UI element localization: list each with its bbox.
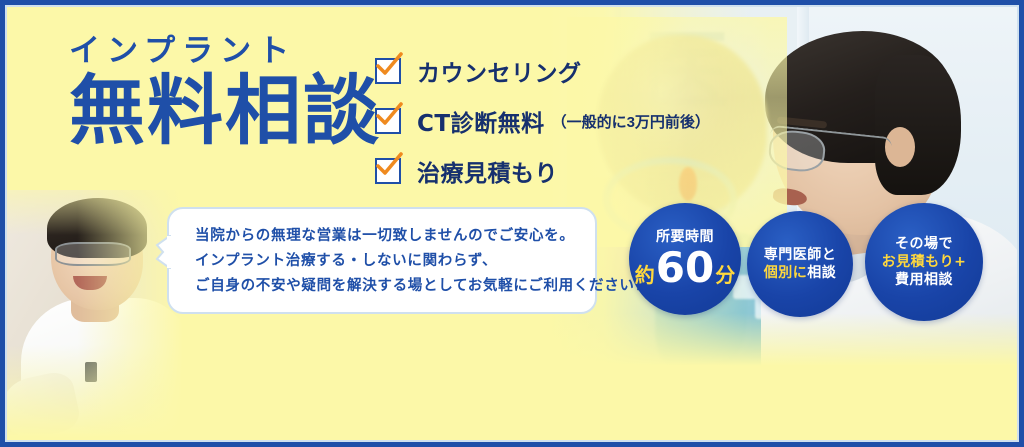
checklist-item-label: カウンセリング	[417, 54, 582, 88]
badge-duration-prefix: 約	[635, 259, 655, 288]
left-photo-yellow-fade	[7, 190, 183, 440]
bubble-line-2: インプラント治療する・しないに関わらず、	[195, 249, 575, 274]
badge-estimate: その場で お見積もり+ 費用相談	[865, 203, 983, 321]
smiling-dentist-photo	[7, 190, 183, 440]
bubble-line-3: ご自身の不安や疑問を解決する場としてお気軽にご利用ください！	[195, 274, 575, 299]
badge-specialist-line2-white: 相談	[807, 265, 836, 281]
headline-title: 無料相談	[69, 70, 389, 152]
promo-banner: 医 療 法	[0, 0, 1024, 447]
checklist-item: 治療見積もり	[375, 149, 710, 193]
badge-specialist-line2-yellow: 個別に	[764, 265, 808, 281]
headline-block: インプラント 無料相談	[69, 35, 389, 152]
badge-duration-number: 60	[656, 247, 714, 289]
checklist-item-label: 治療見積もり	[417, 154, 558, 188]
feature-badges: 所要時間 約 60 分 専門医師と 個別に相談 その場で お見積もり+ 費用相談	[629, 203, 1009, 323]
badge-duration: 所要時間 約 60 分	[629, 203, 741, 315]
badge-specialist-line1: 専門医師と	[764, 246, 837, 264]
feature-checklist: カウンセリング CT診断無料 （一般的に3万円前後） 治療見積もり	[375, 49, 710, 199]
badge-specialist-line2: 個別に相談	[764, 264, 837, 282]
reassurance-speech-bubble: 当院からの無理な営業は一切致しませんのでご安心を。 インプラント治療する・しない…	[167, 207, 597, 314]
badge-duration-suffix: 分	[715, 259, 735, 288]
checkbox-checked-icon	[375, 108, 401, 134]
banner-inner-frame: 医 療 法	[7, 7, 1017, 440]
badge-specialist: 専門医師と 個別に相談	[747, 211, 853, 317]
checklist-item-label: CT診断無料	[417, 104, 545, 138]
badge-duration-value: 約 60 分	[635, 247, 735, 289]
checklist-item: CT診断無料 （一般的に3万円前後）	[375, 99, 710, 143]
bubble-line-1: 当院からの無理な営業は一切致しませんのでご安心を。	[195, 224, 575, 249]
badge-estimate-line1: その場で	[895, 235, 953, 253]
speech-bubble-tail	[153, 235, 171, 269]
checkbox-checked-icon	[375, 158, 401, 184]
checklist-item: カウンセリング	[375, 49, 710, 93]
checkbox-checked-icon	[375, 58, 401, 84]
badge-estimate-line2: お見積もり+	[882, 253, 967, 271]
checklist-item-note: （一般的に3万円前後）	[552, 111, 710, 132]
headline-subtitle: インプラント	[69, 35, 389, 68]
badge-estimate-line3: 費用相談	[895, 271, 953, 289]
